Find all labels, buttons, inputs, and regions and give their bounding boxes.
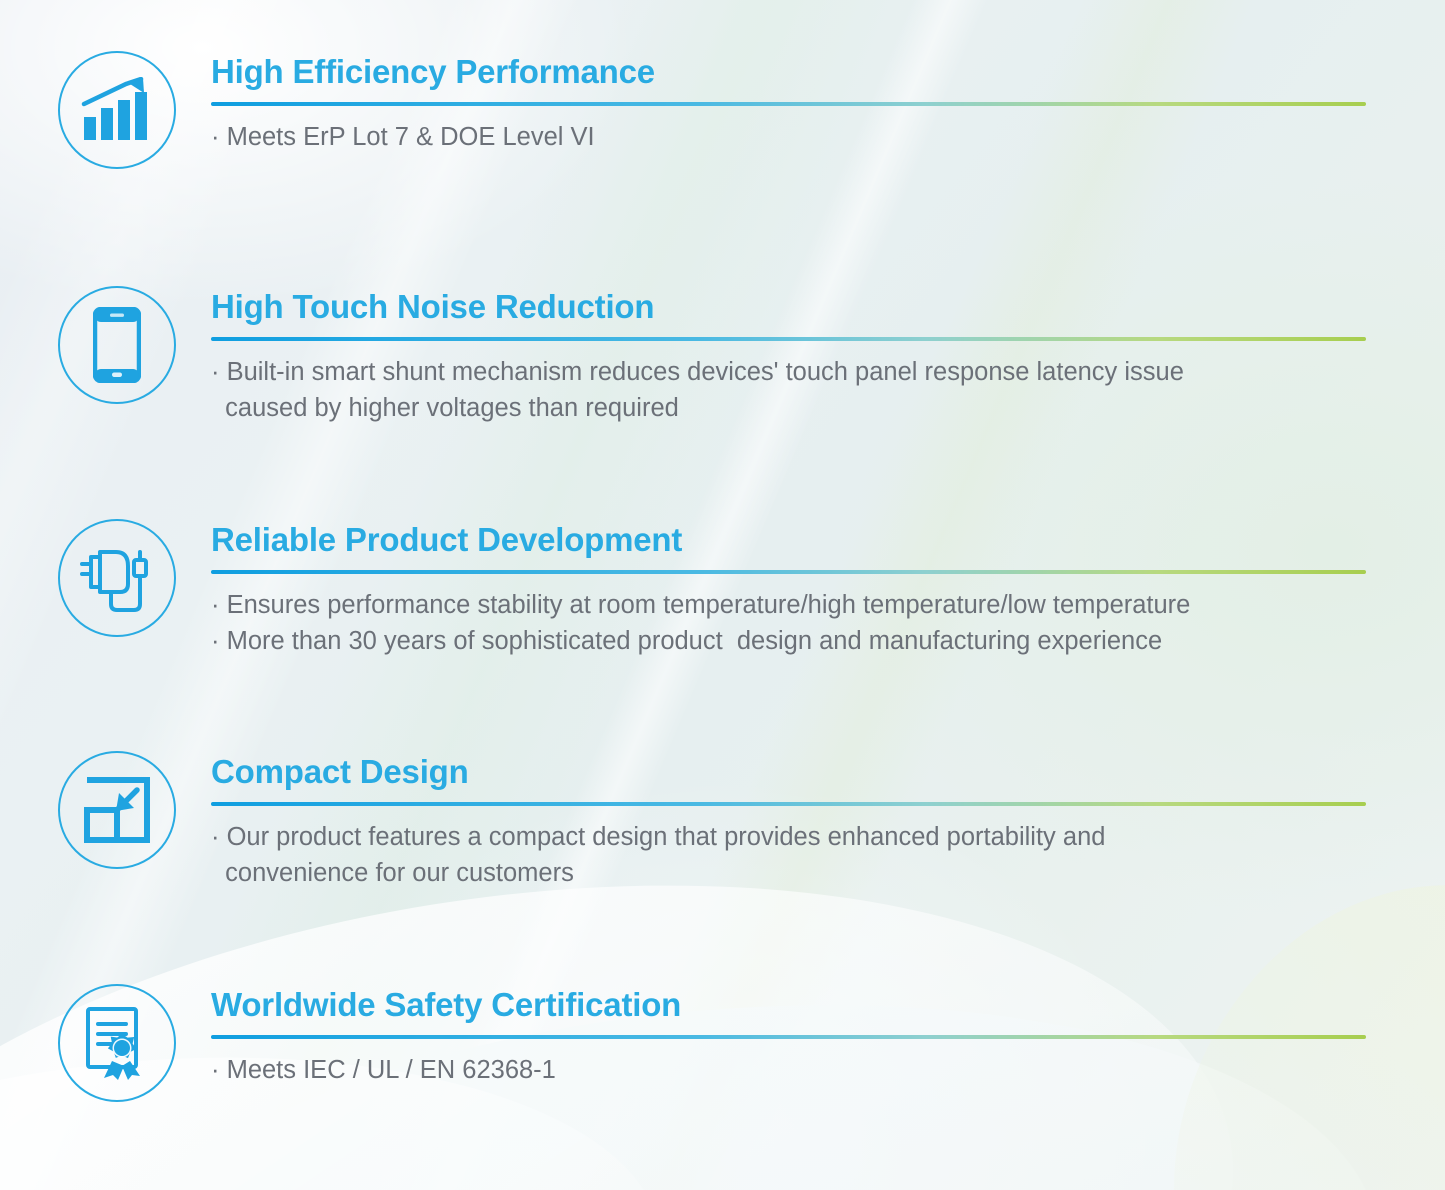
feature-title: Worldwide Safety Certification	[211, 987, 1366, 1023]
feature-body: Compact Design · Our product features a …	[179, 748, 1366, 892]
feature-divider	[211, 102, 1366, 106]
feature-divider	[211, 337, 1366, 341]
feature-body: High Efficiency Performance · Meets ErP …	[179, 48, 1366, 155]
feature-line: · Built-in smart shunt mechanism reduces…	[211, 354, 1366, 391]
feature-divider	[211, 1035, 1366, 1039]
feature-line: · Meets IEC / UL / EN 62368-1	[211, 1052, 1366, 1089]
feature-lines: · Our product features a compact design …	[211, 819, 1366, 892]
feature-line: caused by higher voltages than required	[211, 390, 1366, 427]
feature-icon-container	[55, 283, 179, 407]
icon-circle-frame	[58, 51, 176, 169]
feature-divider	[211, 802, 1366, 806]
feature-icon-container	[55, 748, 179, 872]
feature-list-page: High Efficiency Performance · Meets ErP …	[0, 0, 1445, 1190]
feature-icon-container	[55, 981, 179, 1105]
feature-line: convenience for our customers	[211, 855, 1366, 892]
feature-line: · Ensures performance stability at room …	[211, 587, 1366, 624]
feature-title: High Touch Noise Reduction	[211, 289, 1366, 325]
feature-lines: · Meets IEC / UL / EN 62368-1	[211, 1052, 1366, 1089]
feature-icon-container	[55, 48, 179, 172]
feature-item-compact-design: Compact Design · Our product features a …	[55, 748, 1366, 892]
feature-line: · Our product features a compact design …	[211, 819, 1366, 856]
icon-circle-frame	[58, 751, 176, 869]
smartphone-icon	[93, 307, 141, 383]
feature-icon-container	[55, 516, 179, 640]
feature-line: · Meets ErP Lot 7 & DOE Level VI	[211, 119, 1366, 156]
icon-circle-frame	[58, 519, 176, 637]
feature-line: · More than 30 years of sophisticated pr…	[211, 623, 1366, 660]
feature-item-high-efficiency-performance: High Efficiency Performance · Meets ErP …	[55, 48, 1366, 172]
feature-item-reliable-product-development: Reliable Product Development · Ensures p…	[55, 516, 1366, 660]
feature-body: Worldwide Safety Certification · Meets I…	[179, 981, 1366, 1088]
feature-item-high-touch-noise-reduction: High Touch Noise Reduction · Built-in sm…	[55, 283, 1366, 427]
certificate-award-icon	[82, 1006, 152, 1080]
feature-item-worldwide-safety-certification: Worldwide Safety Certification · Meets I…	[55, 981, 1366, 1105]
icon-circle-frame	[58, 984, 176, 1102]
feature-divider	[211, 570, 1366, 574]
feature-body: High Touch Noise Reduction · Built-in sm…	[179, 283, 1366, 427]
icon-circle-frame	[58, 286, 176, 404]
feature-lines: · Meets ErP Lot 7 & DOE Level VI	[211, 119, 1366, 156]
feature-title: Compact Design	[211, 754, 1366, 790]
feature-lines: · Built-in smart shunt mechanism reduces…	[211, 354, 1366, 427]
feature-lines: · Ensures performance stability at room …	[211, 587, 1366, 660]
feature-title: High Efficiency Performance	[211, 54, 1366, 90]
compact-resize-icon	[83, 776, 151, 844]
bar-chart-growth-icon	[81, 77, 153, 143]
feature-title: Reliable Product Development	[211, 522, 1366, 558]
feature-body: Reliable Product Development · Ensures p…	[179, 516, 1366, 660]
power-adapter-icon	[78, 542, 156, 614]
